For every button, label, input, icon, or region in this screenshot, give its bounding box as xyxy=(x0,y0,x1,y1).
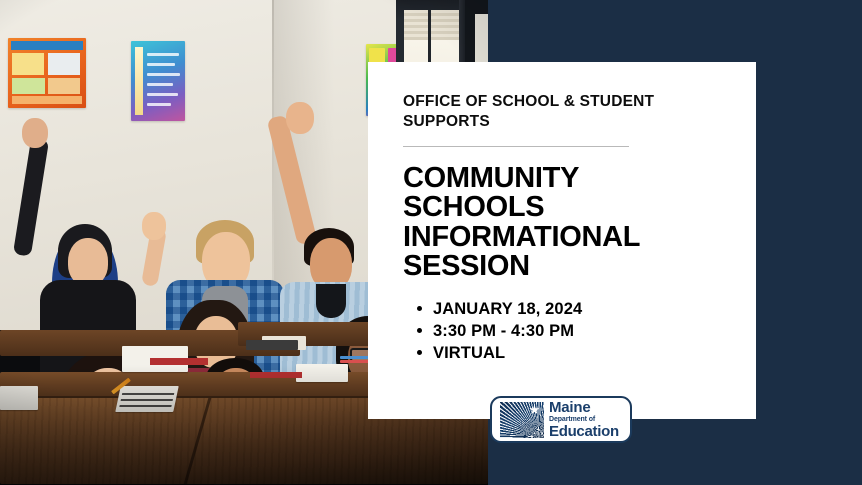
content-card: OFFICE OF SCHOOL & STUDENT SUPPORTS COMM… xyxy=(368,62,756,419)
divider xyxy=(403,146,629,147)
pencil-blue xyxy=(340,356,370,359)
title-line-4: SESSION xyxy=(403,252,673,282)
logo-wordmark: Maine Department of Education xyxy=(549,400,619,439)
wall-poster-orange xyxy=(8,38,86,108)
slide: OFFICE OF SCHOOL & STUDENT SUPPORTS COMM… xyxy=(0,0,862,485)
logo-line-education: Education xyxy=(549,424,619,439)
title-line-1: COMMUNITY xyxy=(403,164,673,194)
office-name: OFFICE OF SCHOOL & STUDENT SUPPORTS xyxy=(403,92,703,132)
list-item-time: 3:30 PM - 4:30 PM xyxy=(403,321,756,343)
book-dark xyxy=(246,340,298,350)
worksheet-front xyxy=(115,386,179,412)
maine-doe-emblem-icon: ★ xyxy=(500,402,544,438)
book-red-front xyxy=(250,372,302,378)
event-details-list: JANUARY 18, 2024 3:30 PM - 4:30 PM VIRTU… xyxy=(403,299,756,365)
logo-line-department: Department of xyxy=(549,416,619,423)
page-title: COMMUNITY SCHOOLS INFORMATIONAL SESSION xyxy=(403,164,673,282)
star-icon: ★ xyxy=(528,403,541,416)
title-line-3: INFORMATIONAL xyxy=(403,223,673,253)
list-item-location: VIRTUAL xyxy=(403,343,756,365)
paper-left-edge xyxy=(0,386,38,410)
book-red-edge xyxy=(150,358,208,365)
title-line-2: SCHOOLS xyxy=(403,193,673,223)
pencil-red xyxy=(340,360,370,363)
window-blinds xyxy=(404,10,460,40)
wall-poster-gradient xyxy=(131,41,185,121)
paper-right xyxy=(296,364,348,382)
logo-line-maine: Maine xyxy=(549,400,619,415)
maine-doe-logo: ★ Maine Department of Education xyxy=(490,396,632,443)
list-item-date: JANUARY 18, 2024 xyxy=(403,299,756,321)
